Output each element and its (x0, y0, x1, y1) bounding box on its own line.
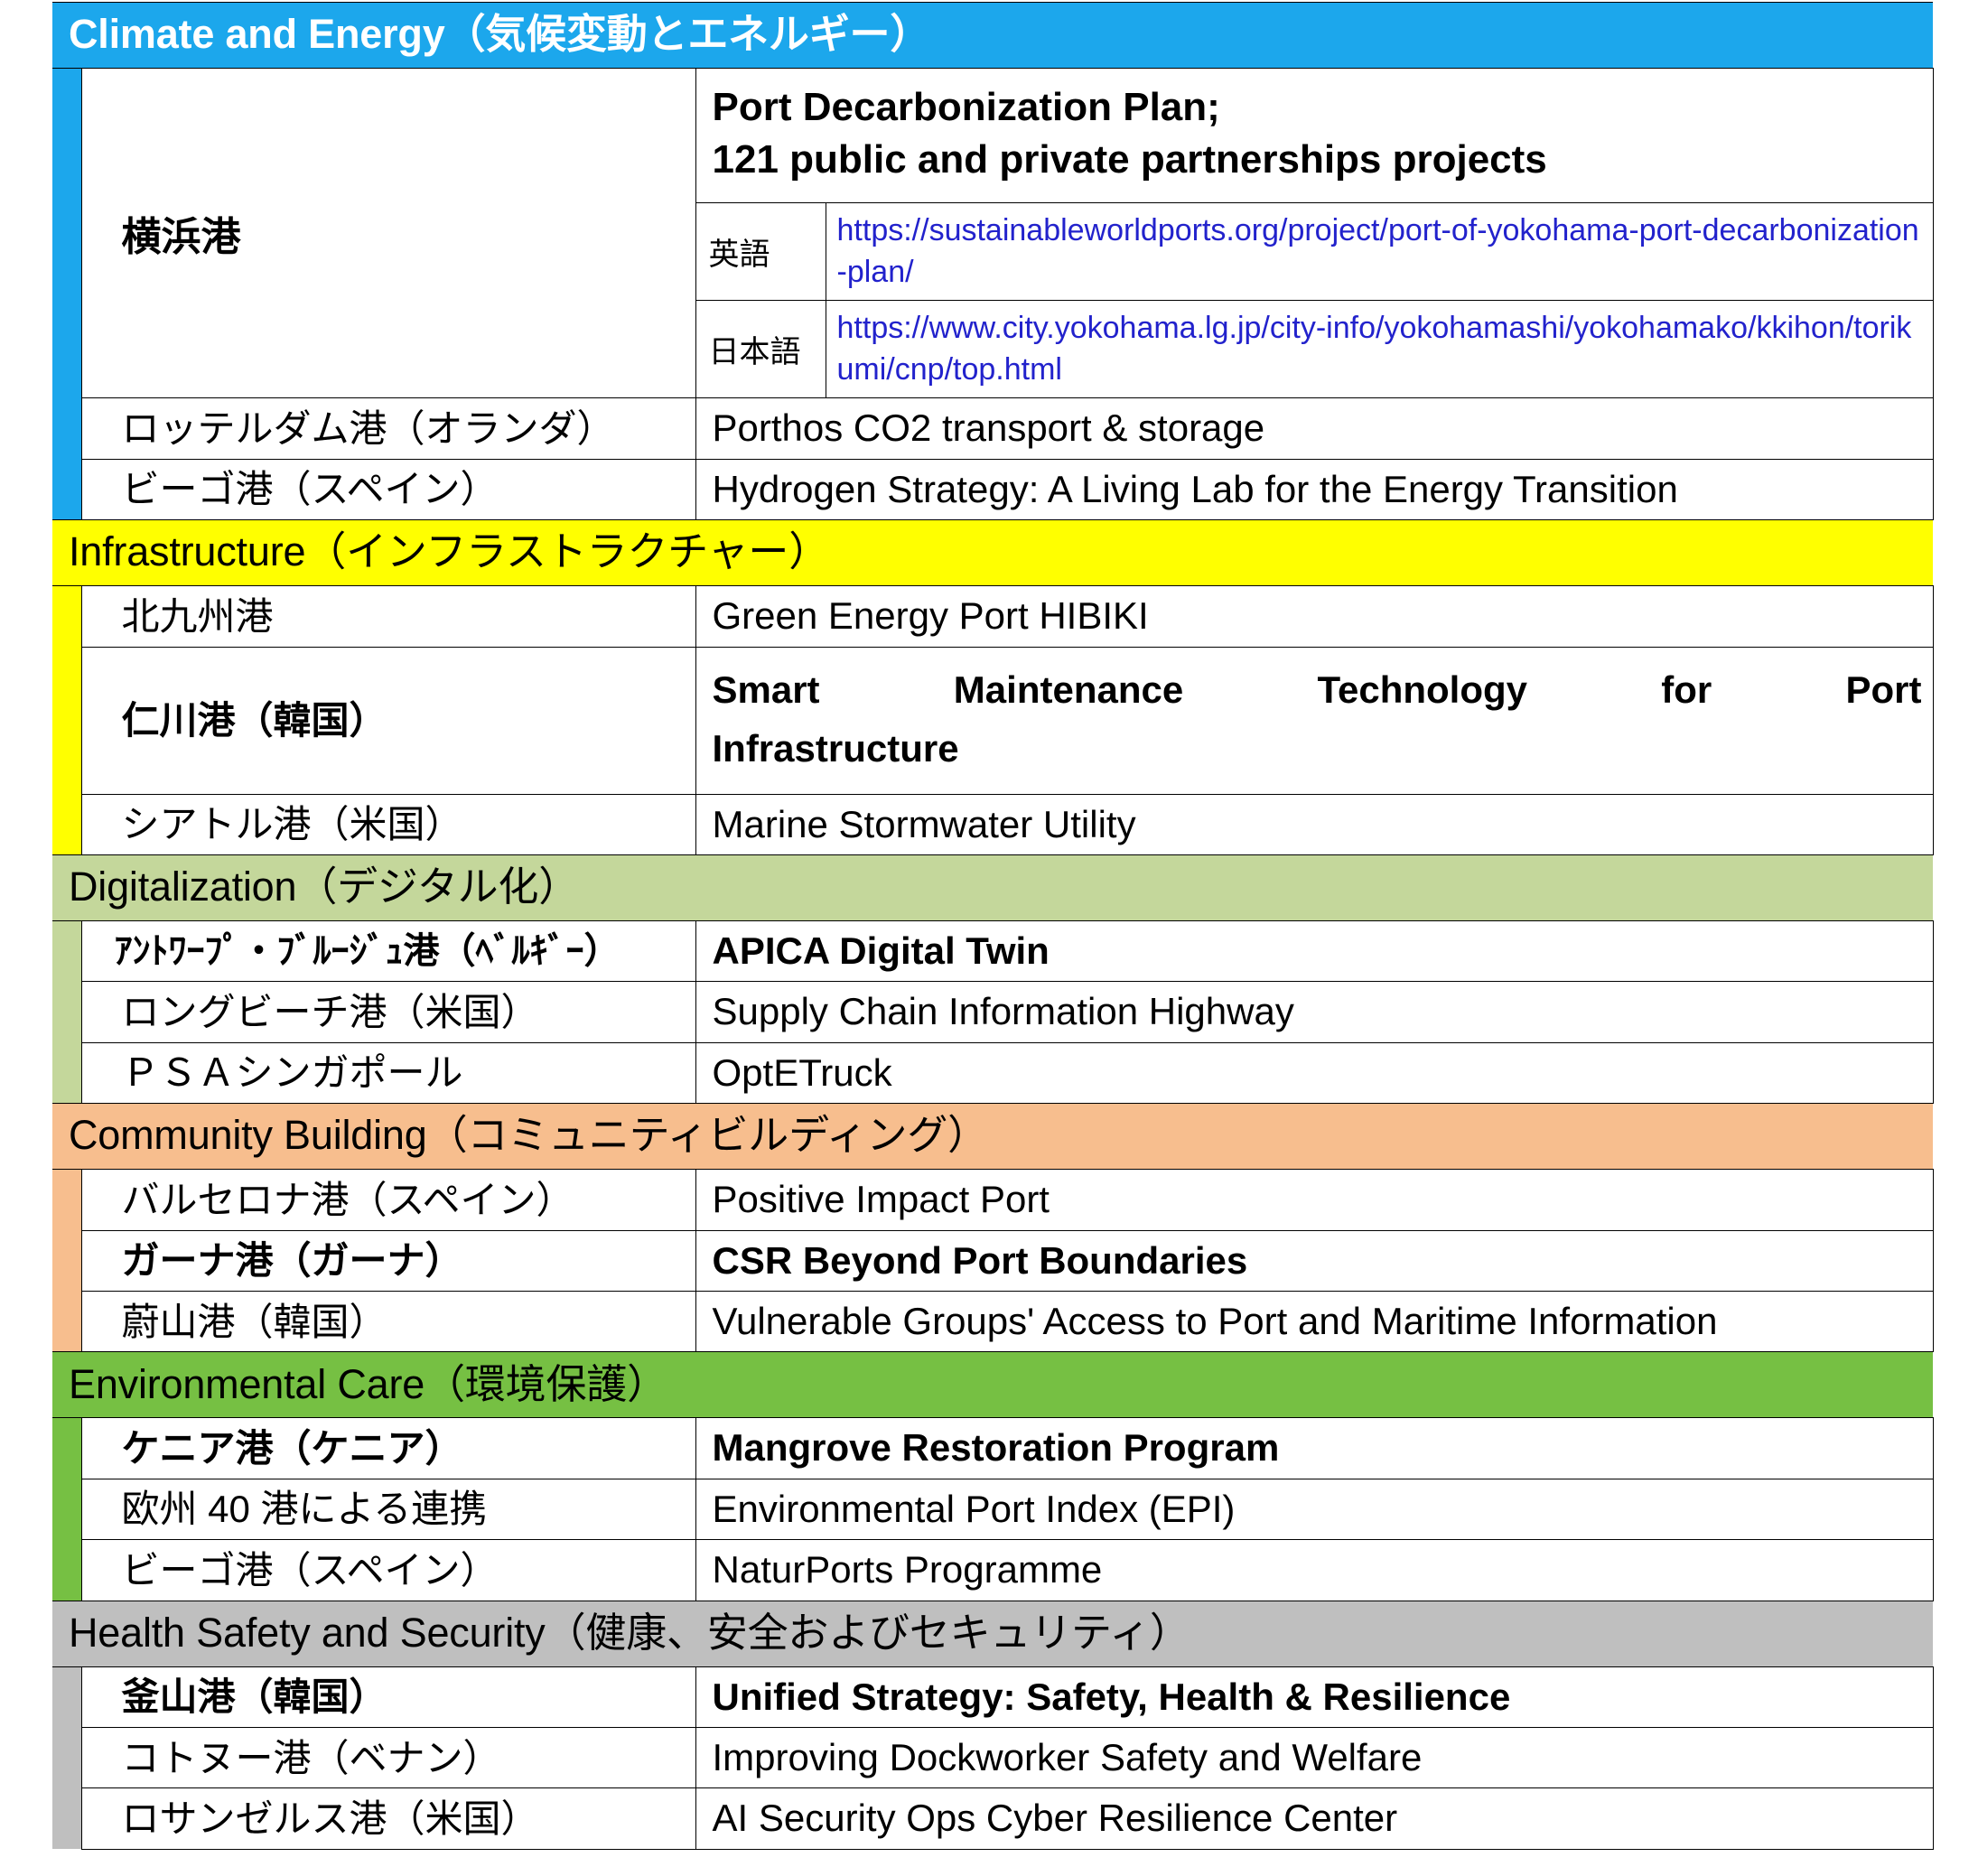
section-header-row: Health Safety and Security（健康、安全およびセキュリテ… (52, 1601, 1933, 1666)
section-header-climate: Climate and Energy（気候変動とエネルギー） (52, 3, 1933, 69)
port-name-cell: ロサンゼルス港（米国） (81, 1788, 695, 1849)
project-name-cell: Environmental Port Index (EPI) (695, 1479, 1933, 1539)
port-name-cell: 欧州 40 港による連携 (81, 1479, 695, 1539)
port-name-cell: 仁川港（韓国） (81, 647, 695, 794)
project-name-cell: OptETruck (695, 1042, 1933, 1103)
table-row: 蔚山港（韓国）Vulnerable Groups' Access to Port… (52, 1292, 1933, 1352)
section-header-row: Climate and Energy（気候変動とエネルギー） (52, 3, 1933, 69)
table-row: 北九州港Green Energy Port HIBIKI (52, 586, 1933, 647)
project-name-cell: APICA Digital Twin (695, 921, 1933, 982)
project-title: Port Decarbonization Plan;121 public and… (696, 69, 1933, 203)
port-name-cell: ＰＳＡシンガポール (81, 1042, 695, 1103)
page-canvas: Climate and Energy（気候変動とエネルギー）横浜港Port De… (0, 0, 1978, 1876)
section-color-strip-infrastructure (52, 586, 81, 855)
port-name-cell: ロングビーチ港（米国） (81, 982, 695, 1042)
port-name-cell: 横浜港 (81, 69, 695, 398)
table-row: 仁川港（韓国）Smart Maintenance Technology for … (52, 647, 1933, 794)
link-url-cell[interactable]: https://sustainableworldports.org/projec… (826, 203, 1932, 301)
project-url-link[interactable]: https://sustainableworldports.org/projec… (837, 213, 1919, 289)
project-name-cell: Mangrove Restoration Program (695, 1418, 1933, 1479)
table-row: シアトル港（米国）Marine Stormwater Utility (52, 794, 1933, 854)
link-language-label: 英語 (696, 203, 826, 301)
port-name-cell: 北九州港 (81, 586, 695, 647)
project-name-cell: Vulnerable Groups' Access to Port and Ma… (695, 1292, 1933, 1352)
section-header-infrastructure: Infrastructure（インフラストラクチャー） (52, 520, 1933, 586)
port-innovation-matrix: Climate and Energy（気候変動とエネルギー）横浜港Port De… (52, 2, 1933, 1850)
link-language-label: 日本語 (696, 301, 826, 398)
port-name-cell: コトヌー港（ベナン） (81, 1728, 695, 1788)
port-name-cell: シアトル港（米国） (81, 794, 695, 854)
port-name-cell: ロッテルダム港（オランダ） (81, 398, 695, 459)
port-name-cell: ケニア港（ケニア） (81, 1418, 695, 1479)
project-name-cell: CSR Beyond Port Boundaries (695, 1230, 1933, 1291)
link-url-cell[interactable]: https://www.city.yokohama.lg.jp/city-inf… (826, 301, 1932, 398)
section-header-row: Digitalization（デジタル化） (52, 855, 1933, 921)
table-row: 釜山港（韓国）Unified Strategy: Safety, Health … (52, 1666, 1933, 1727)
table-row: 横浜港Port Decarbonization Plan;121 public … (52, 69, 1933, 398)
port-name-cell: バルセロナ港（スペイン） (81, 1170, 695, 1230)
project-name-cell: Positive Impact Port (695, 1170, 1933, 1230)
project-name-cell: Marine Stormwater Utility (695, 794, 1933, 854)
table-row: ビーゴ港（スペイン）Hydrogen Strategy: A Living La… (52, 459, 1933, 519)
project-name-cell: AI Security Ops Cyber Resilience Center (695, 1788, 1933, 1849)
port-name-cell: ガーナ港（ガーナ） (81, 1230, 695, 1291)
project-name-cell: Hydrogen Strategy: A Living Lab for the … (695, 459, 1933, 519)
project-with-links-cell: Port Decarbonization Plan;121 public and… (695, 69, 1933, 398)
project-title-row: Port Decarbonization Plan;121 public and… (696, 69, 1933, 203)
section-color-strip-health (52, 1666, 81, 1849)
section-header-community: Community Building（コミュニティビルディング） (52, 1104, 1933, 1170)
project-name-cell: Porthos CO2 transport & storage (695, 398, 1933, 459)
section-color-strip-climate (52, 69, 81, 520)
table-row: ロサンゼルス港（米国）AI Security Ops Cyber Resilie… (52, 1788, 1933, 1849)
project-name-cell: Improving Dockworker Safety and Welfare (695, 1728, 1933, 1788)
section-color-strip-digitalization (52, 921, 81, 1104)
project-name-cell: NaturPorts Programme (695, 1540, 1933, 1601)
matrix-table: Climate and Energy（気候変動とエネルギー）横浜港Port De… (52, 2, 1934, 1850)
table-row: ビーゴ港（スペイン）NaturPorts Programme (52, 1540, 1933, 1601)
section-header-health: Health Safety and Security（健康、安全およびセキュリテ… (52, 1601, 1933, 1666)
table-row: ロングビーチ港（米国）Supply Chain Information High… (52, 982, 1933, 1042)
table-row: ｱﾝﾄﾜｰﾌﾟ・ﾌﾞﾙｰｼﾞｭ港（ﾍﾞﾙｷﾞｰ）APICA Digital Tw… (52, 921, 1933, 982)
port-name-cell: 釜山港（韓国） (81, 1666, 695, 1727)
project-title-line1: Port Decarbonization Plan; (713, 85, 1220, 129)
project-name-cell: Smart Maintenance Technology for PortInf… (695, 647, 1933, 794)
section-header-row: Environmental Care（環境保護） (52, 1352, 1933, 1418)
port-name-cell: 蔚山港（韓国） (81, 1292, 695, 1352)
project-links-table: Port Decarbonization Plan;121 public and… (696, 69, 1933, 397)
project-name-cell: Unified Strategy: Safety, Health & Resil… (695, 1666, 1933, 1727)
section-header-row: Community Building（コミュニティビルディング） (52, 1104, 1933, 1170)
project-name-cell: Green Energy Port HIBIKI (695, 586, 1933, 647)
project-line-1: Smart Maintenance Technology for Port (713, 668, 1922, 711)
table-row: ロッテルダム港（オランダ）Porthos CO2 transport & sto… (52, 398, 1933, 459)
table-row: ケニア港（ケニア）Mangrove Restoration Program (52, 1418, 1933, 1479)
port-name-cell: ｱﾝﾄﾜｰﾌﾟ・ﾌﾞﾙｰｼﾞｭ港（ﾍﾞﾙｷﾞｰ） (81, 921, 695, 982)
link-row: 日本語https://www.city.yokohama.lg.jp/city-… (696, 301, 1933, 398)
section-header-environmental: Environmental Care（環境保護） (52, 1352, 1933, 1418)
section-color-strip-community (52, 1170, 81, 1352)
project-line-2: Infrastructure (713, 719, 1922, 778)
section-header-row: Infrastructure（インフラストラクチャー） (52, 520, 1933, 586)
table-row: ＰＳＡシンガポールOptETruck (52, 1042, 1933, 1103)
project-name-cell: Supply Chain Information Highway (695, 982, 1933, 1042)
port-name-cell: ビーゴ港（スペイン） (81, 459, 695, 519)
matrix-body: Climate and Energy（気候変動とエネルギー）横浜港Port De… (52, 3, 1933, 1850)
port-name-cell: ビーゴ港（スペイン） (81, 1540, 695, 1601)
section-color-strip-environmental (52, 1418, 81, 1601)
project-url-link[interactable]: https://www.city.yokohama.lg.jp/city-inf… (837, 311, 1912, 387)
table-row: ガーナ港（ガーナ）CSR Beyond Port Boundaries (52, 1230, 1933, 1291)
table-row: バルセロナ港（スペイン）Positive Impact Port (52, 1170, 1933, 1230)
project-title-line2: 121 public and private partnerships proj… (713, 137, 1547, 182)
table-row: コトヌー港（ベナン）Improving Dockworker Safety an… (52, 1728, 1933, 1788)
table-row: 欧州 40 港による連携Environmental Port Index (EP… (52, 1479, 1933, 1539)
section-header-digitalization: Digitalization（デジタル化） (52, 855, 1933, 921)
link-row: 英語https://sustainableworldports.org/proj… (696, 203, 1933, 301)
